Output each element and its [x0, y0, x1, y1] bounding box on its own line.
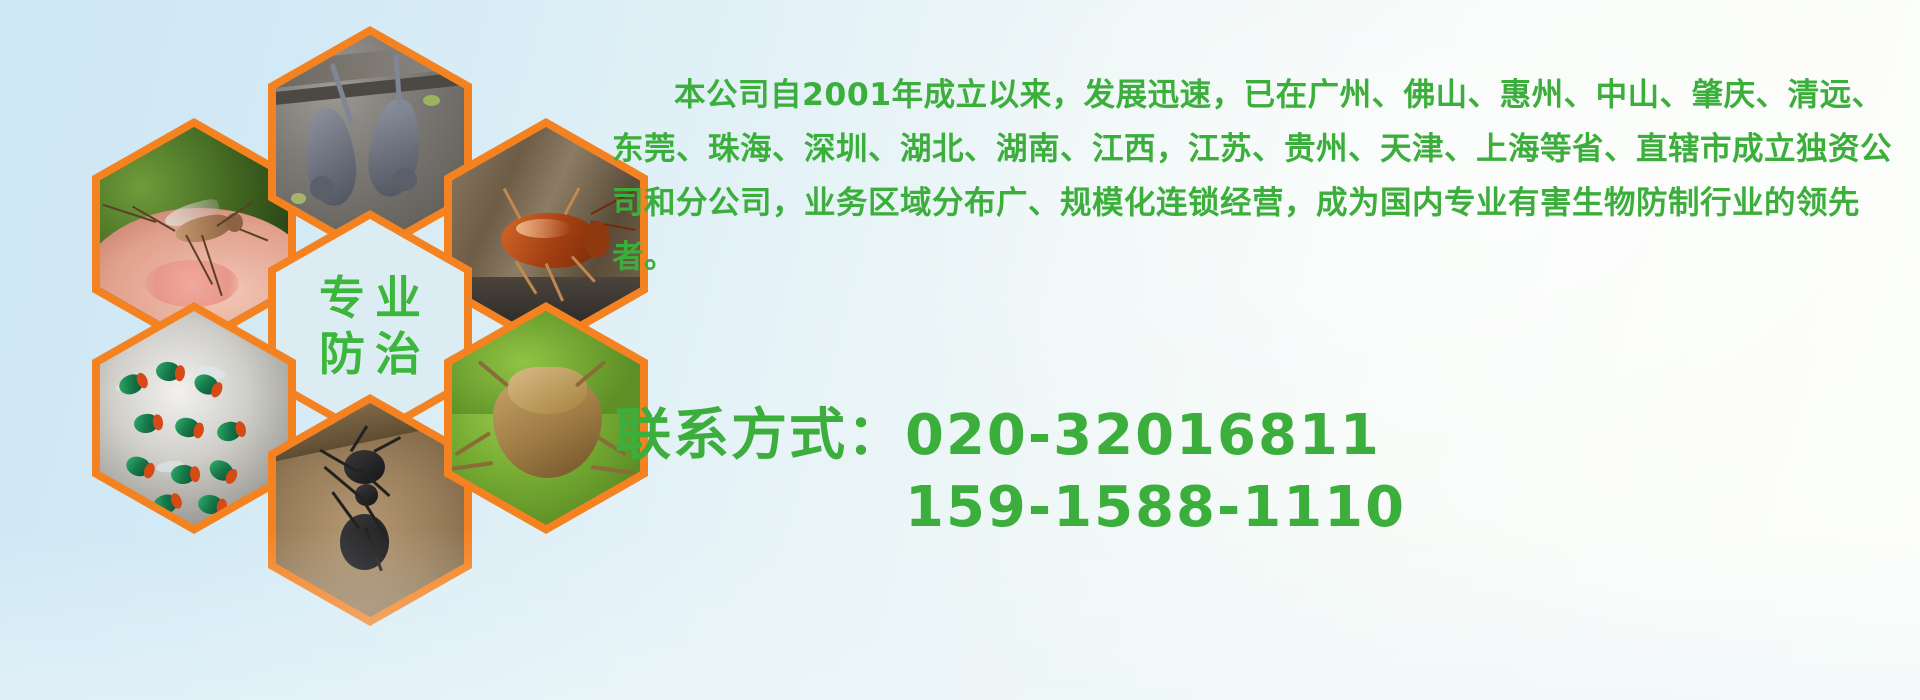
- contact-landline[interactable]: 联系方式：020-32016811: [615, 400, 1915, 472]
- company-intro-paragraph: 本公司自2001年成立以来，发展迅速，已在广州、佛山、惠州、中山、肇庆、清远、东…: [612, 68, 1902, 284]
- hex-photo-ant[interactable]: [268, 394, 472, 626]
- honeycomb-slogan: 专业 防治: [309, 270, 431, 382]
- hex-photo-flies[interactable]: [92, 302, 296, 534]
- pest-control-banner: 专业 防治: [0, 0, 1920, 700]
- hex-photo-flies-frame: [100, 311, 288, 525]
- slogan-line-2: 防治: [309, 326, 431, 382]
- contact-mobile[interactable]: 159-1588-1110: [615, 472, 1915, 544]
- intro-copy-block: 本公司自2001年成立以来，发展迅速，已在广州、佛山、惠州、中山、肇庆、清远、东…: [612, 36, 1902, 315]
- contact-block: 联系方式：020-32016811 159-1588-1110: [615, 400, 1915, 544]
- hex-photo-ant-frame: [276, 403, 464, 617]
- hex-photo-stinkbug-frame: [452, 311, 640, 525]
- honeycomb-gallery: 专业 防治: [92, 8, 592, 553]
- flies-illustration: [100, 311, 288, 525]
- slogan-line-1: 专业: [309, 270, 431, 326]
- stinkbug-illustration: [452, 311, 640, 525]
- ant-illustration: [276, 403, 464, 617]
